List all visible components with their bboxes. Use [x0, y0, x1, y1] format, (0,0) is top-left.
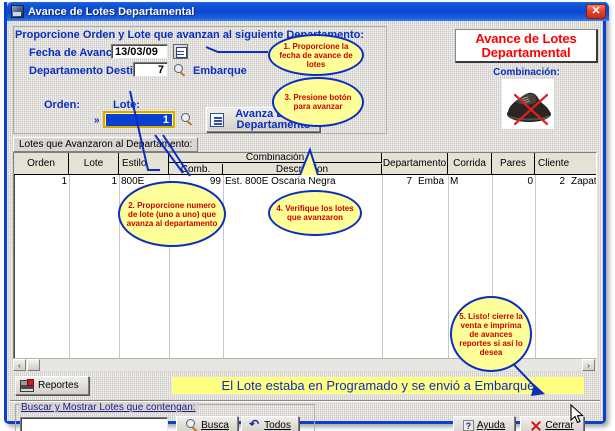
orden-label: Orden:: [44, 99, 80, 111]
reportes-label: Reportes: [38, 380, 79, 391]
column-header-descripcion[interactable]: Descripcion: [223, 164, 382, 174]
grid-header-row: Orden Lote Estilo Combinación Comb. Desc…: [14, 153, 596, 175]
scroll-thumb[interactable]: [27, 359, 40, 371]
shoe-image: [502, 79, 554, 129]
depto-name-label: Embarque: [193, 65, 247, 77]
lote-label: Lote:: [113, 99, 140, 111]
app-icon: [11, 5, 24, 18]
search-group-label: Buscar y Mostrar Lotes que contengan:: [19, 402, 198, 413]
fecha-input[interactable]: 13/03/09: [111, 44, 168, 59]
column-header-orden[interactable]: Orden: [14, 153, 69, 174]
column-header-corrida[interactable]: Corrida: [448, 153, 492, 174]
column-header-departamento[interactable]: Departamento: [382, 153, 448, 174]
avanza-button-line2: Departamento: [228, 120, 319, 131]
grid-horizontal-scrollbar[interactable]: ‹ ›: [13, 358, 597, 371]
grid-tab-strip: Lotes que Avanzaron al Departamento:: [13, 137, 593, 152]
column-header-cliente[interactable]: Cliente: [535, 153, 597, 174]
printer-icon: [20, 380, 34, 392]
row-pointer-icon: »: [94, 115, 100, 126]
column-header-comb[interactable]: Comb.: [169, 164, 223, 174]
cell-corrida: M: [448, 175, 492, 187]
status-message: El Lote estaba en Programado y se envió …: [172, 377, 584, 394]
avanza-lote-button[interactable]: Avanza Lote al Departamento: [206, 107, 320, 132]
cell-cliente: Zapatillas Del Norte Sa De Cv: [569, 175, 597, 187]
screenshot-root: Avance de Lotes Departamental ✕ Proporci…: [0, 0, 615, 431]
scroll-right-icon[interactable]: ›: [582, 359, 595, 371]
todos-label: Todos: [264, 420, 291, 431]
column-header-estilo[interactable]: Estilo: [119, 153, 169, 174]
column-header-combinacion[interactable]: Combinación: [169, 153, 382, 163]
calendar-icon[interactable]: [173, 44, 188, 59]
undo-icon: [249, 420, 261, 430]
client-area: Proporcione Orden y Lote que avanzan al …: [7, 21, 603, 421]
title-bar: Avance de Lotes Departamental ✕: [7, 2, 609, 21]
column-header-pares[interactable]: Pares: [492, 153, 535, 174]
cell-descripcion: Est. 800E Oscaria Negra: [223, 175, 382, 187]
ayuda-label: Ayuda: [477, 420, 505, 431]
cell-orden: 1: [14, 175, 69, 187]
cell-pares: 0: [492, 175, 535, 187]
cell-lote: 1: [69, 175, 119, 187]
cell-departamento-nombre: Emba: [416, 175, 448, 187]
busca-magnifier-icon: [185, 419, 198, 431]
busca-label: Busca: [201, 420, 229, 431]
combinacion-label: Combinación:: [455, 67, 598, 78]
cerrar-label: Cerrar: [545, 420, 573, 431]
depto-label: Departamento Destino:: [29, 65, 150, 77]
logo-panel: Avance de Lotes Departamental: [455, 29, 598, 63]
cell-cliente-num: 2: [535, 175, 567, 187]
fecha-label: Fecha de Avance:: [29, 47, 122, 59]
avanza-button-line1: Avanza Lote al: [228, 109, 319, 120]
depto-input[interactable]: 7: [133, 62, 168, 77]
lote-magnifier-icon[interactable]: [180, 113, 194, 127]
lotes-grid[interactable]: Orden Lote Estilo Combinación Comb. Desc…: [13, 152, 597, 371]
reportes-button[interactable]: Reportes: [15, 376, 89, 395]
ayuda-button[interactable]: ? Ayuda: [453, 416, 515, 431]
lote-input-value: 1: [106, 114, 172, 126]
logo-line2: Departamental: [481, 46, 570, 60]
group-title: Proporcione Orden y Lote que avanzan al …: [15, 29, 364, 41]
cell-departamento: 7: [382, 175, 414, 187]
column-header-lote[interactable]: Lote: [69, 153, 119, 174]
lote-input[interactable]: 1: [103, 111, 175, 128]
cell-estilo: 800E: [119, 175, 169, 187]
application-window: Avance de Lotes Departamental ✕ Proporci…: [4, 2, 606, 424]
document-icon: [210, 113, 224, 127]
search-input[interactable]: [20, 417, 168, 431]
close-icon[interactable]: ✕: [586, 4, 606, 19]
cerrar-button[interactable]: Cerrar: [520, 416, 584, 431]
busca-button[interactable]: Busca: [176, 416, 238, 431]
tab-lotes-avanzaron[interactable]: Lotes que Avanzaron al Departamento:: [13, 137, 198, 152]
help-icon: ?: [463, 420, 474, 431]
logo-line1: Avance de Lotes: [475, 32, 576, 46]
close-x-icon: [530, 420, 542, 431]
search-magnifier-icon[interactable]: [173, 64, 187, 78]
window-title: Avance de Lotes Departamental: [28, 6, 194, 18]
todos-button[interactable]: Todos: [241, 416, 299, 431]
entry-group-box: [13, 26, 387, 134]
table-row[interactable]: 1 1 800E 99 Est. 800E Oscaria Negra 7 Em…: [14, 175, 596, 187]
cell-comb: 99: [169, 175, 223, 187]
scroll-left-icon[interactable]: ‹: [13, 359, 26, 371]
